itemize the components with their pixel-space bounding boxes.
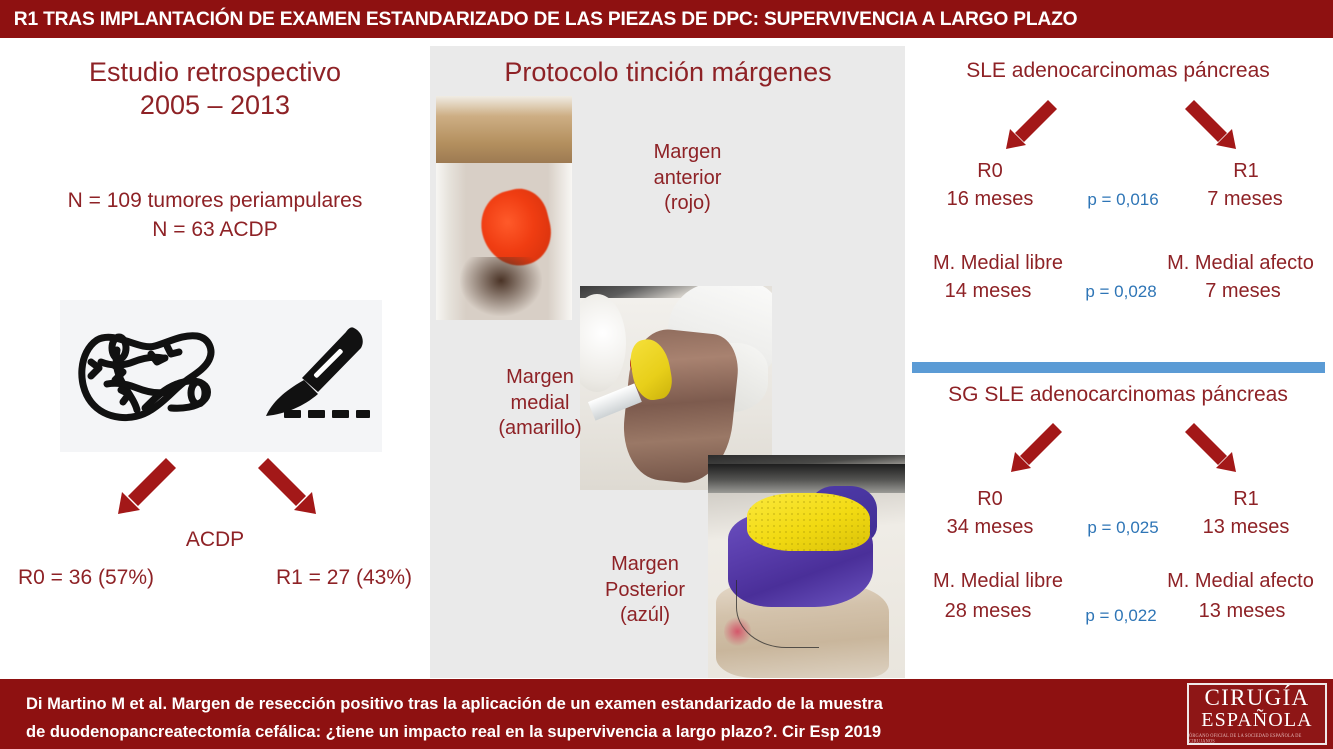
acdp-r0-value: R0 = 36 (57%) — [18, 566, 154, 590]
sle-medial-afecto-value: 7 meses — [1178, 280, 1308, 303]
logo-line-1: CIRUGÍA — [1205, 686, 1310, 709]
sg-sle-r0-label: R0 — [940, 488, 1040, 511]
arrow-down-left-r0 — [110, 452, 182, 529]
left-column-heading: Estudio retrospectivo 2005 – 2013 — [20, 56, 410, 122]
pancreas-icon — [71, 322, 221, 430]
sg-sle-medial-afecto-label: M. Medial afecto — [1148, 570, 1333, 593]
sg-sle-medial-libre-label: M. Medial libre — [913, 570, 1083, 593]
acdp-results-row: R0 = 36 (57%) R1 = 27 (43%) — [10, 566, 420, 590]
sle-medial-afecto-label: M. Medial afecto — [1148, 252, 1333, 275]
sle-p-value-1: p = 0,016 — [1068, 190, 1178, 210]
cirugia-espanola-logo: CIRUGÍA ESPAÑOLA ÓRGANO OFICIAL DE LA SO… — [1187, 683, 1327, 745]
citation-text: Di Martino M et al. Margen de resección … — [26, 690, 1142, 746]
logo-tagline: ÓRGANO OFICIAL DE LA SOCIEDAD ESPAÑOLA D… — [1189, 732, 1325, 743]
acdp-r1-value: R1 = 27 (43%) — [276, 566, 412, 590]
sg-sle-medial-afecto-value: 13 meses — [1172, 600, 1312, 623]
sg-sle-r1-value: 13 meses — [1176, 516, 1316, 539]
label-margen-posterior: Margen Posterior (azúl) — [560, 552, 730, 629]
sg-sle-p-value-1: p = 0,025 — [1068, 518, 1178, 538]
sg-sle-medial-libre-value: 28 meses — [918, 600, 1058, 623]
sg-sle-r0-value: 34 meses — [920, 516, 1060, 539]
sle-section-heading: SLE adenocarcinomas páncreas — [912, 58, 1324, 84]
sg-sle-r1-label: R1 — [1196, 488, 1296, 511]
arrow-down-right-r1 — [252, 452, 324, 529]
sle-medial-libre-value: 14 meses — [918, 280, 1058, 303]
label-margen-medial: Margen medial (amarillo) — [455, 365, 625, 442]
arrow-down-right-sle-r1 — [1180, 95, 1242, 162]
arrow-down-left-sg-r0 — [1005, 418, 1067, 485]
page-title: R1 TRAS IMPLANTACIÓN DE EXAMEN ESTANDARI… — [0, 8, 1077, 31]
study-population-stats: N = 109 tumores periampulares N = 63 ACD… — [20, 186, 410, 245]
sle-r0-value: 16 meses — [920, 188, 1060, 211]
sle-r1-value: 7 meses — [1180, 188, 1310, 211]
specimen-photo-anterior-margin — [436, 96, 572, 320]
header-bar: R1 TRAS IMPLANTACIÓN DE EXAMEN ESTANDARI… — [0, 0, 1333, 38]
sg-sle-section-heading: SG SLE adenocarcinomas páncreas — [912, 383, 1324, 407]
specimen-photo-posterior-margin — [708, 455, 905, 678]
study-icon-box — [60, 300, 382, 452]
scalpel-icon — [242, 322, 372, 430]
sle-r0-label: R0 — [940, 160, 1040, 183]
label-margen-anterior: Margen anterior (rojo) — [600, 140, 775, 217]
arrow-down-right-sg-r1 — [1180, 418, 1242, 485]
sle-p-value-2: p = 0,028 — [1066, 282, 1176, 302]
logo-line-2: ESPAÑOLA — [1201, 709, 1312, 731]
sle-medial-libre-label: M. Medial libre — [913, 252, 1083, 275]
acdp-label: ACDP — [20, 528, 410, 552]
center-column-heading: Protocolo tinción márgenes — [432, 56, 904, 89]
sle-r1-label: R1 — [1196, 160, 1296, 183]
arrow-down-left-sle-r0 — [1000, 95, 1062, 162]
section-divider — [912, 362, 1325, 373]
sg-sle-p-value-2: p = 0,022 — [1066, 606, 1176, 626]
